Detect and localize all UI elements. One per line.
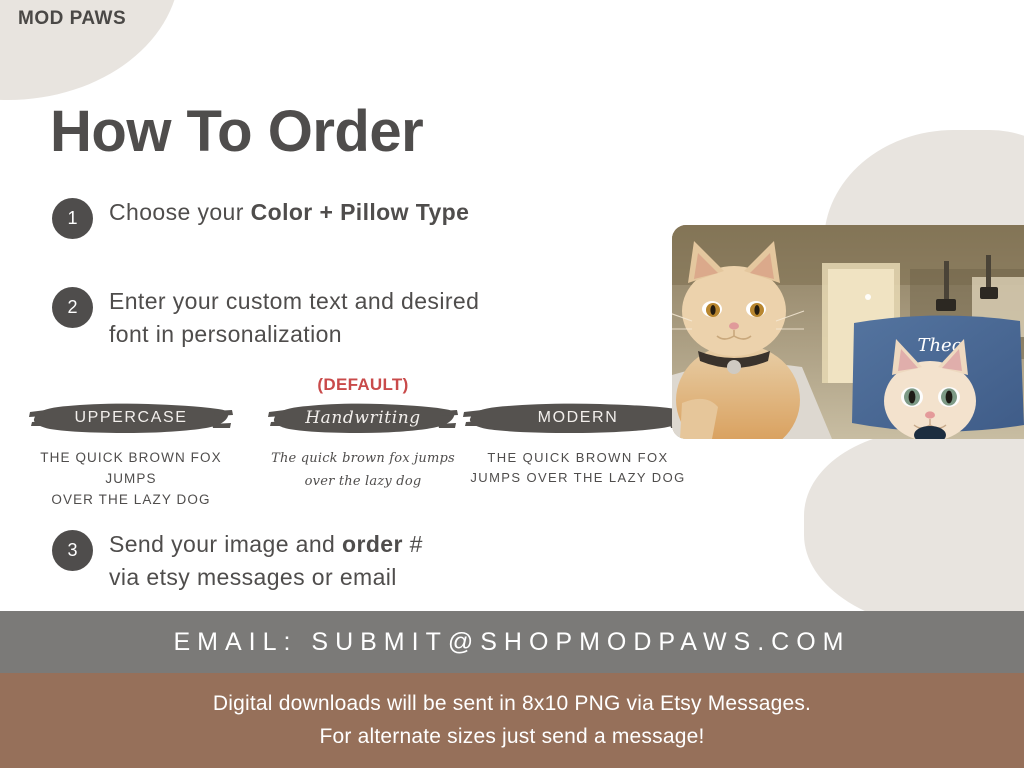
step-2-number: 2: [52, 287, 93, 328]
step-3-number: 3: [52, 530, 93, 571]
brush-label-modern: MODERN: [538, 409, 619, 427]
step-2: 2 Enter your custom text and desired fon…: [52, 285, 479, 350]
decorative-blob-right-bottom: [804, 430, 1024, 630]
font-sample-handwriting: (DEFAULT) Handwriting The quick brown fo…: [268, 375, 458, 494]
email-text: EMAIL: SUBMIT@SHOPMODPAWS.COM: [173, 628, 850, 657]
sample-body-modern: THE QUICK BROWN FOX JUMPS OVER THE LAZY …: [462, 448, 694, 488]
step-3-text: Send your image and order # via etsy mes…: [109, 528, 423, 593]
brush-badge-modern: MODERN: [462, 398, 694, 438]
custom-pet-pillow: Theo: [852, 315, 1024, 439]
step-1-text-bold: Color + Pillow Type: [251, 199, 470, 225]
sample-handwriting-line-1: The quick brown fox jumps: [268, 448, 458, 471]
step-1: 1 Choose your Color + Pillow Type: [52, 196, 469, 239]
step-3-text-bold: order: [342, 531, 403, 557]
sample-modern-line-1: THE QUICK BROWN FOX: [462, 448, 694, 468]
footer-line-1: Digital downloads will be sent in 8x10 P…: [213, 688, 811, 721]
step-2-line-1: Enter your custom text and desired: [109, 285, 479, 318]
brand-logo: MOD PAWS: [18, 8, 126, 30]
step-2-text: Enter your custom text and desired font …: [109, 285, 479, 350]
sample-handwriting-line-2: over the lazy dog: [268, 471, 458, 494]
sample-body-handwriting: The quick brown fox jumps over the lazy …: [268, 448, 458, 494]
brush-label-handwriting: Handwriting: [305, 408, 421, 428]
footer-band: Digital downloads will be sent in 8x10 P…: [0, 673, 1024, 768]
step-3-text-plain: Send your image and: [109, 531, 342, 557]
sample-uppercase-line-1: THE QUICK BROWN FOX JUMPS: [28, 448, 234, 490]
step-3-text-suffix: #: [403, 531, 423, 557]
product-photo: Theo: [672, 225, 1024, 439]
step-3-line-2: via etsy messages or email: [109, 561, 423, 594]
brush-badge-uppercase: UPPERCASE: [28, 398, 234, 438]
step-3-line-1: Send your image and order #: [109, 528, 423, 561]
brush-badge-handwriting: Handwriting: [268, 398, 458, 438]
how-to-order-graphic: MOD PAWS How To Order 1 Choose your Colo…: [0, 0, 1024, 768]
sample-uppercase-line-2: OVER THE LAZY DOG: [28, 490, 234, 511]
step-1-text-plain: Choose your: [109, 199, 251, 225]
footer-line-2: For alternate sizes just send a message!: [319, 721, 704, 754]
sample-modern-line-2: JUMPS OVER THE LAZY DOG: [462, 468, 694, 488]
default-tag: (DEFAULT): [268, 375, 458, 395]
step-1-text: Choose your Color + Pillow Type: [109, 196, 469, 229]
page-title: How To Order: [50, 98, 423, 165]
email-band: EMAIL: SUBMIT@SHOPMODPAWS.COM: [0, 611, 1024, 673]
brush-label-uppercase: UPPERCASE: [74, 409, 187, 427]
font-sample-modern: MODERN THE QUICK BROWN FOX JUMPS OVER TH…: [462, 398, 694, 488]
font-sample-uppercase: UPPERCASE THE QUICK BROWN FOX JUMPS OVER…: [28, 398, 234, 511]
step-1-number: 1: [52, 198, 93, 239]
step-2-line-2: font in personalization: [109, 318, 479, 351]
step-3: 3 Send your image and order # via etsy m…: [52, 528, 423, 593]
product-photo-illustration: Theo: [672, 225, 1024, 439]
sample-body-uppercase: THE QUICK BROWN FOX JUMPS OVER THE LAZY …: [28, 448, 234, 511]
